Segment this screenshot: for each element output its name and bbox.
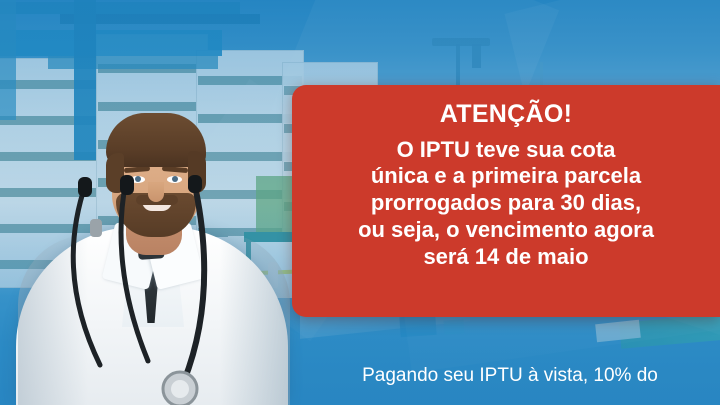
alert-title: ATENÇÃO!: [440, 101, 572, 129]
alert-line: O IPTU teve sua cota: [358, 137, 654, 164]
alert-line: ou seja, o vencimento agora: [358, 217, 654, 244]
alert-panel: ATENÇÃO! O IPTU teve sua cota única e a …: [292, 85, 720, 317]
alert-body: O IPTU teve sua cota única e a primeira …: [350, 137, 662, 271]
stethoscope-icon: [8, 175, 298, 405]
alert-line: será 14 de maio: [358, 244, 654, 271]
doctor-photo: [8, 65, 298, 405]
alert-line: única e a primeira parcela: [358, 163, 654, 190]
alert-line: prorrogados para 30 dias,: [358, 190, 654, 217]
caption-band: Pagando seu IPTU à vista, 10% do: [300, 347, 720, 405]
banner-image: ATENÇÃO! O IPTU teve sua cota única e a …: [0, 0, 720, 405]
caption-text: Pagando seu IPTU à vista, 10% do: [362, 365, 658, 388]
